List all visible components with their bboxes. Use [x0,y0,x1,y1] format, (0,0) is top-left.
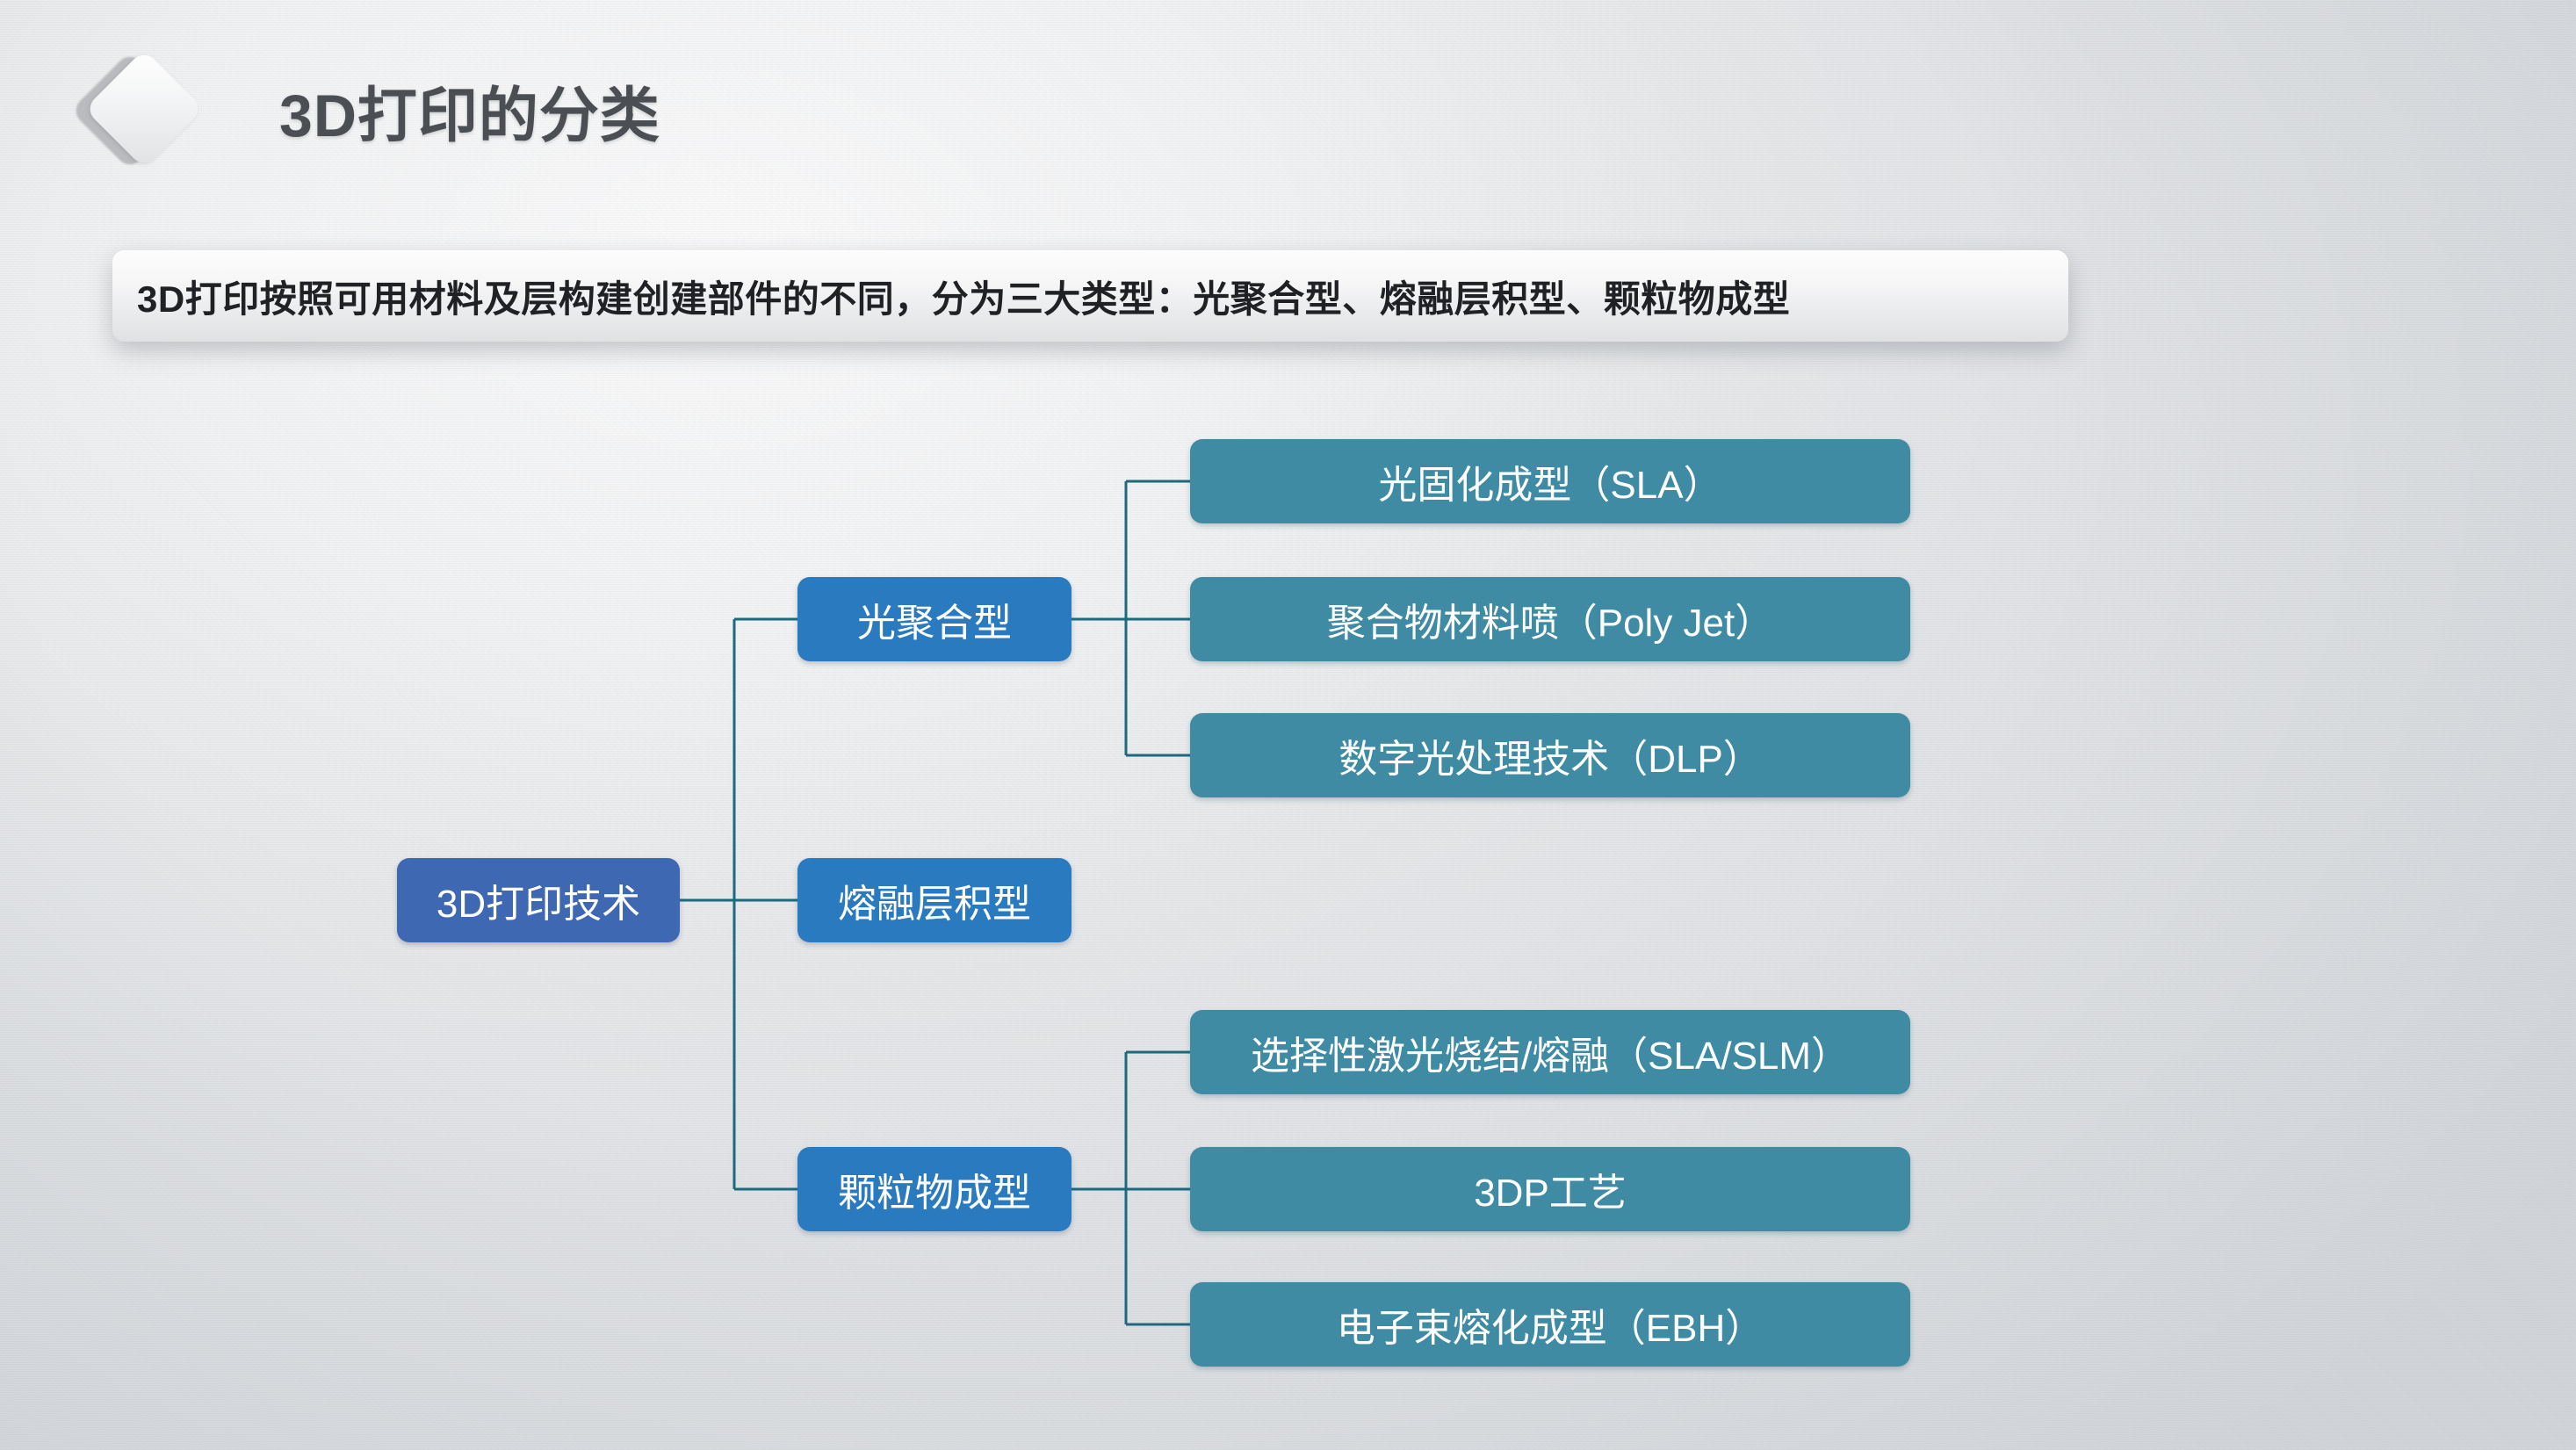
node-label: 聚合物材料喷（Poly Jet） [1327,591,1774,647]
tree-node-leaf-0-2[interactable]: 数字光处理技术（DLP） [1190,713,1910,797]
node-label: 选择性激光烧结/熔融（SLA/SLM） [1251,1024,1850,1080]
tree-node-branch-0[interactable]: 光聚合型 [797,577,1072,661]
tree-node-leaf-0-1[interactable]: 聚合物材料喷（Poly Jet） [1190,577,1910,661]
node-label: 3DP工艺 [1474,1161,1627,1217]
node-label: 光聚合型 [857,591,1012,647]
node-label: 颗粒物成型 [838,1161,1031,1217]
tree-node-leaf-0-0[interactable]: 光固化成型（SLA） [1190,439,1910,523]
node-label: 3D打印技术 [437,872,640,928]
tree-node-leaf-2-1[interactable]: 3DP工艺 [1190,1147,1910,1231]
tree-node-leaf-2-2[interactable]: 电子束熔化成型（EBH） [1190,1282,1910,1367]
tree-node-leaf-2-0[interactable]: 选择性激光烧结/熔融（SLA/SLM） [1190,1010,1910,1094]
tree-node-branch-2[interactable]: 颗粒物成型 [797,1147,1072,1231]
node-label: 电子束熔化成型（EBH） [1337,1296,1764,1353]
classification-tree-diagram: 3D打印技术光聚合型光固化成型（SLA）聚合物材料喷（Poly Jet）数字光处… [0,0,2576,1450]
slide-canvas: 3D打印的分类 3D打印按照可用材料及层构建创建部件的不同，分为三大类型：光聚合… [0,0,2576,1450]
tree-node-branch-1[interactable]: 熔融层积型 [797,858,1072,942]
node-label: 熔融层积型 [838,872,1031,928]
node-label: 数字光处理技术（DLP） [1339,727,1762,783]
node-label: 光固化成型（SLA） [1378,453,1721,509]
tree-node-root[interactable]: 3D打印技术 [397,858,680,942]
